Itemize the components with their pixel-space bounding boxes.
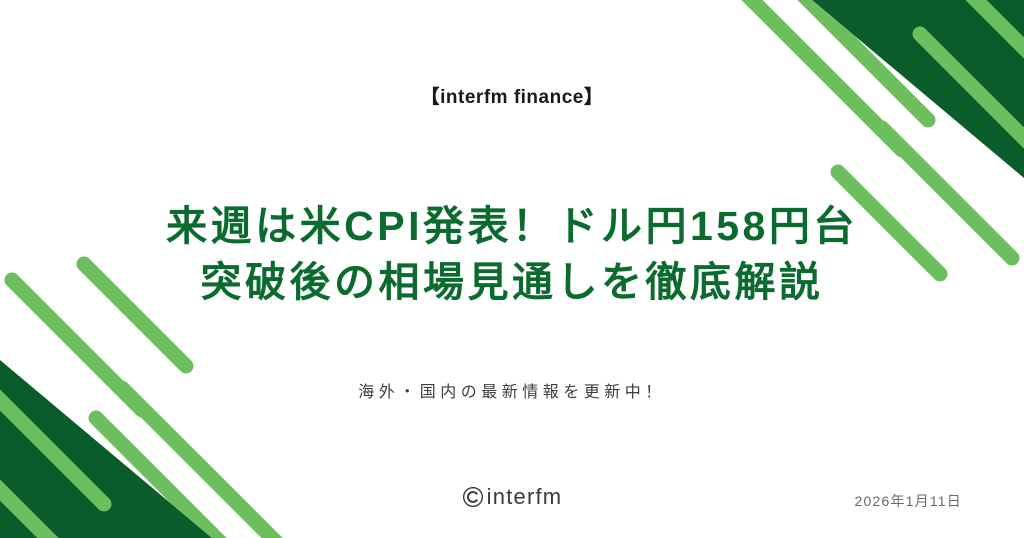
page-title: 来週は米CPI発表！ドル円158円台 突破後の相場見通しを徹底解説: [0, 198, 1024, 310]
headline-line-1: 来週は米CPI発表！ドル円158円台: [0, 198, 1024, 254]
subtitle-text: 海外・国内の最新情報を更新中！: [0, 378, 1024, 402]
kicker-label: 【interfm finance】: [0, 82, 1024, 109]
card-content: 【interfm finance】 来週は米CPI発表！ドル円158円台 突破後…: [0, 0, 1024, 538]
social-share-card: 【interfm finance】 来週は米CPI発表！ドル円158円台 突破後…: [0, 0, 1024, 538]
logo-wordmark: interfm: [487, 486, 563, 508]
circled-c-icon: [462, 486, 484, 508]
headline-line-2: 突破後の相場見通しを徹底解説: [0, 254, 1024, 310]
publish-date: 2026年1月11日: [855, 491, 962, 511]
